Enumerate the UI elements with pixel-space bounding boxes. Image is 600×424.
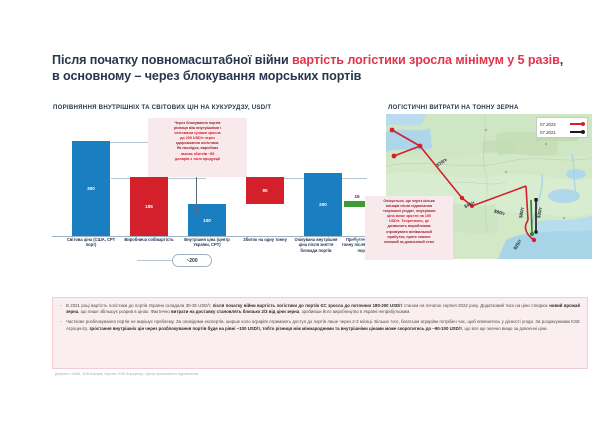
bullet-item-1: - В 2021 році вартість логістики до порт… — [60, 303, 580, 315]
map-callout: Очікується, що через кілька місяців післ… — [365, 196, 453, 260]
cat-label-2: Внутрішня ціна (центр України, CPT) — [180, 237, 234, 248]
bar-internal-price: 100 — [188, 204, 226, 236]
bar-expected-internal-price: 200 — [304, 173, 342, 236]
bullets-panel: - В 2021 році вартість логістики до порт… — [52, 297, 588, 369]
bar-value-3: 85 — [262, 188, 267, 193]
cat-label-1: Виробнича собівартість — [122, 237, 176, 242]
b1-f: витрати на доставку становлять близько 2… — [171, 309, 299, 314]
bullet-text-2: Часткове розблокування портів не вирішує… — [66, 319, 580, 331]
b1-a: В 2021 році вартість логістики до портів… — [66, 303, 213, 308]
chart-callout-arrow-head — [194, 211, 200, 215]
map-callout-leader — [352, 240, 366, 241]
bar-loss-per-ton: 85 — [246, 177, 284, 204]
map-legend-row-2021: 07.2021 — [540, 128, 584, 136]
title-part-1: Після початку повномасштабної війни — [52, 53, 292, 67]
bar-production-cost: 185 — [130, 177, 168, 236]
b2-c: , що все ще значно вище за довоєнні ціни… — [462, 326, 548, 331]
map-legend-label-2022: 07.2022 — [540, 122, 556, 127]
b1-e: , що лише збільшує розрив в цінах. Факти… — [78, 309, 171, 314]
chart-callout-arrow-stem — [196, 177, 197, 213]
slide-root: Після початку повномасштабної війни варт… — [0, 0, 600, 424]
map-legend: 07.2022 07.2021 — [536, 117, 588, 138]
cat-label-0: Світова ціна (США, CPT порт) — [62, 237, 120, 248]
cat-label-4: Очікувана внутрішня ціна після зняття бл… — [292, 237, 340, 253]
chart-category-labels: Світова ціна (США, CPT порт) Виробнича с… — [52, 237, 370, 289]
legend-line-2022-icon — [570, 123, 584, 125]
bar-value-4: 200 — [319, 202, 327, 207]
bullet-text-1: В 2021 році вартість логістики до портів… — [66, 303, 580, 315]
map-legend-label-2021: 07.2021 — [540, 130, 556, 135]
source-note: Джерело: УКАБ, АПК-Інформ, Укрстат, KSE … — [55, 372, 455, 377]
bullet-item-2: - Часткове розблокування портів не виріш… — [60, 319, 580, 331]
page-title: Після початку повномасштабної війни варт… — [52, 52, 572, 84]
chart-callout-line-8: доларів з тони продукції — [152, 157, 243, 162]
bar-world-price: 300 — [72, 141, 110, 236]
right-section-header: ЛОГІСТИЧНІ ВИТРАТИ НА ТОННУ ЗЕРНА — [388, 104, 519, 111]
title-highlight: вартість логістики зросла мінімум у 5 ра… — [292, 53, 560, 67]
legend-line-2021-icon — [570, 131, 584, 133]
chart-callout: Через блокування портів різниця між внут… — [148, 118, 247, 177]
map-callout-line-9: менший за довоєнний стан — [369, 240, 449, 245]
left-section-header: ПОРІВНЯННЯ ВНУТРІШНІХ ТА СВІТОВИХ ЦІН НА… — [53, 104, 271, 111]
b2-b: зростання внутрішніх цін через розблокув… — [89, 326, 462, 331]
b1-b: після початку війни вартість логістики д… — [213, 303, 403, 308]
cat-label-3: Збиток на одну тонну — [240, 237, 290, 242]
bar-value-0: 300 — [87, 186, 95, 191]
map-legend-row-2022: 07.2022 — [540, 120, 584, 128]
bar-value-2: 100 — [203, 218, 211, 223]
bar-value-1: 185 — [145, 204, 153, 209]
b1-c: станом на початок серпня 2022 року. Дода… — [402, 303, 549, 308]
b1-g: , зробивши його виробництво в Україні не… — [299, 309, 410, 314]
